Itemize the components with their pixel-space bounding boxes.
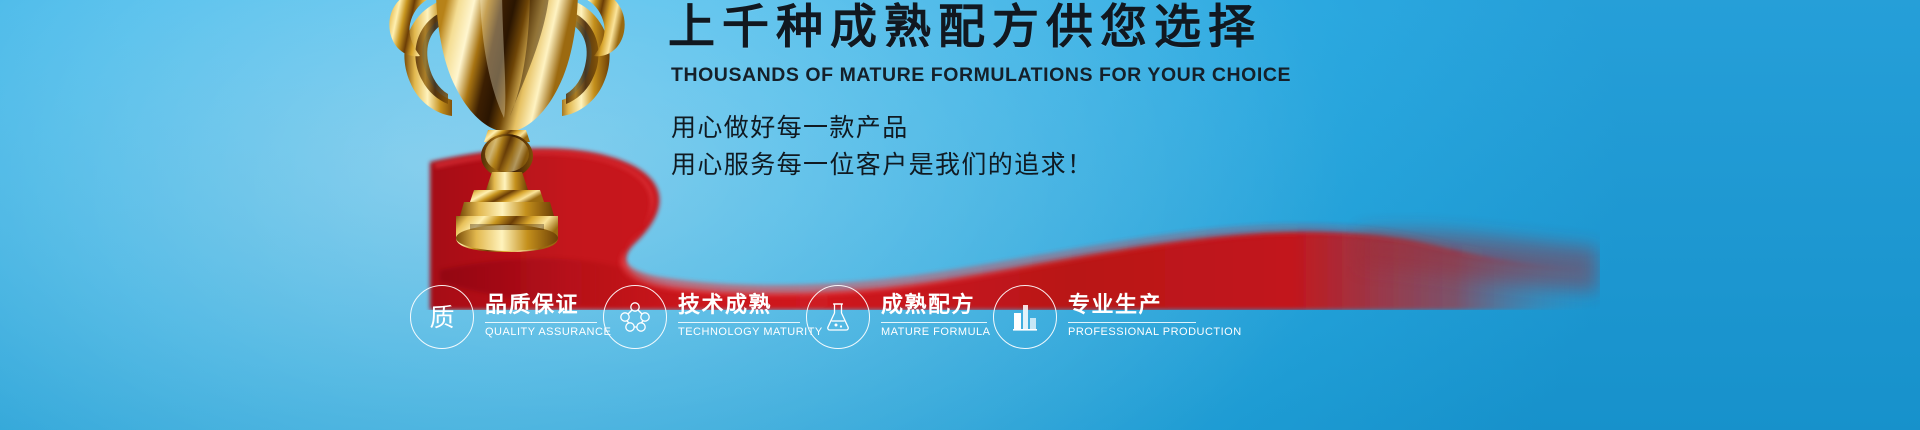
- feature-badge-technology-maturity: 技术成熟 TECHNOLOGY MATURITY: [603, 281, 800, 353]
- page-title: 上千种成熟配方供您选择: [668, 2, 1368, 54]
- feature-badge-mature-formula: 成熟配方 MATURE FORMULA: [806, 281, 987, 353]
- page-subtitle: THOUSANDS OF MATURE FORMULATIONS FOR YOU…: [671, 63, 1368, 87]
- badge-label-cn: 专业生产: [1068, 293, 1196, 319]
- tagline-line-1: 用心做好每一款产品: [671, 109, 1368, 146]
- badge-label-en: PROFESSIONAL PRODUCTION: [1068, 326, 1196, 339]
- badge-text-group: 品质保证 QUALITY ASSURANCE: [485, 293, 597, 341]
- flask-icon: [806, 285, 870, 349]
- badge-divider: [881, 322, 987, 323]
- tagline-line-2: 用心服务每一位客户是我们的追求！: [671, 146, 1368, 183]
- badge-label-en: TECHNOLOGY MATURITY: [678, 326, 800, 339]
- badge-label-cn: 技术成熟: [678, 293, 800, 319]
- feature-badge-quality-assurance: 质 品质保证 QUALITY ASSURANCE: [410, 281, 597, 353]
- factory-icon: [993, 285, 1057, 349]
- badge-text-group: 成熟配方 MATURE FORMULA: [881, 293, 987, 341]
- badge-label-en: MATURE FORMULA: [881, 326, 987, 339]
- shield-icon: 质: [410, 285, 474, 349]
- tagline-group: 用心做好每一款产品 用心服务每一位客户是我们的追求！: [671, 109, 1368, 183]
- promo-banner: 上千种成熟配方供您选择 THOUSANDS OF MATURE FORMULAT…: [0, 0, 1920, 430]
- badge-label-cn: 品质保证: [485, 293, 597, 319]
- feature-badge-professional-production: 专业生产 PROFESSIONAL PRODUCTION: [993, 281, 1196, 353]
- badge-divider: [485, 322, 597, 323]
- feature-badge-row: 质 品质保证 QUALITY ASSURANCE: [410, 281, 1240, 353]
- badge-divider: [678, 322, 800, 323]
- molecule-icon: [603, 285, 667, 349]
- badge-text-group: 技术成熟 TECHNOLOGY MATURITY: [678, 293, 800, 341]
- gold-trophy-image: [352, 0, 652, 284]
- headline-block: 上千种成熟配方供您选择 THOUSANDS OF MATURE FORMULAT…: [668, 2, 1368, 183]
- badge-text-group: 专业生产 PROFESSIONAL PRODUCTION: [1068, 293, 1196, 341]
- badge-label-cn: 成熟配方: [881, 293, 987, 319]
- badge-divider: [1068, 322, 1196, 323]
- badge-label-en: QUALITY ASSURANCE: [485, 326, 597, 339]
- shield-icon-glyph: 质: [429, 305, 454, 330]
